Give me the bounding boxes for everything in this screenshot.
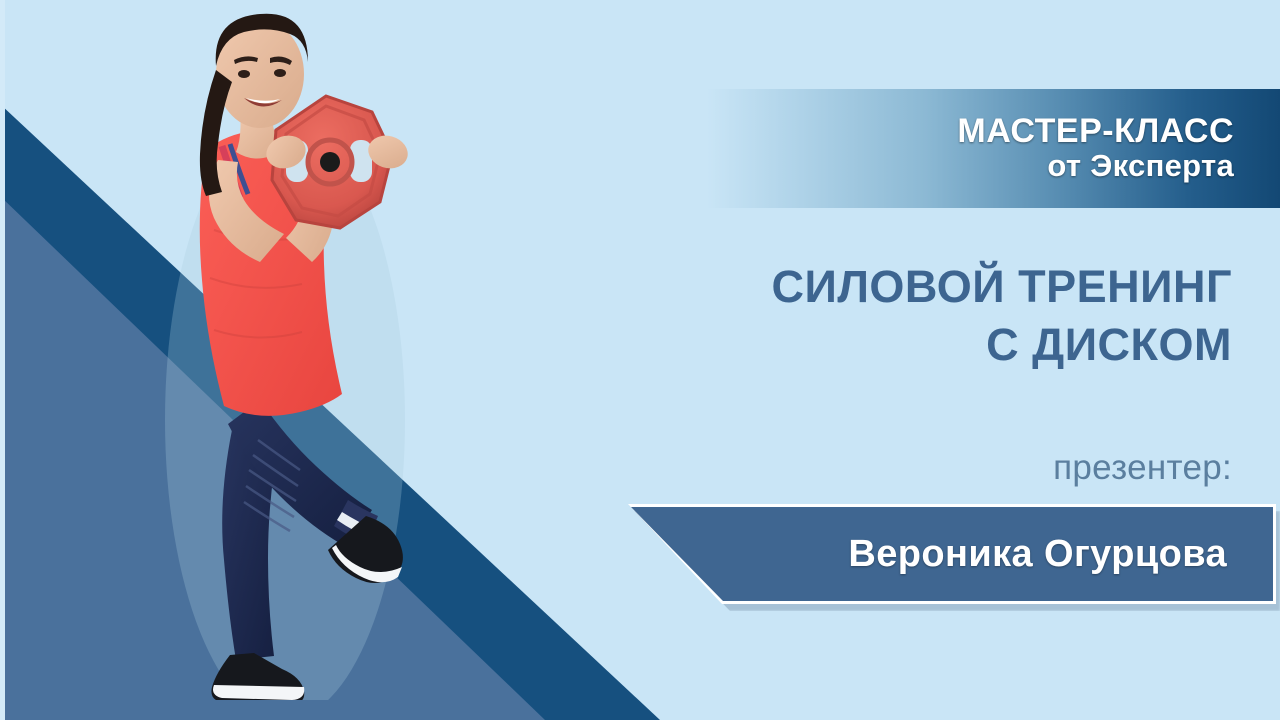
masterclass-ribbon: МАСТЕР-КЛАСС от Эксперта [707, 89, 1280, 208]
presenter-name: Вероника Огурцова [848, 533, 1227, 576]
title-line-1: СИЛОВОЙ ТРЕНИНГ [660, 258, 1232, 316]
ribbon-line-2: от Эксперта [1047, 149, 1234, 184]
title-line-2: С ДИСКОМ [660, 316, 1232, 374]
left-edge-strip [0, 0, 5, 720]
name-banner-fill: Вероника Огурцова [631, 507, 1273, 601]
promo-slide: МАСТЕР-КЛАСС от Эксперта СИЛОВОЙ ТРЕНИНГ… [0, 0, 1280, 720]
page-title: СИЛОВОЙ ТРЕНИНГ С ДИСКОМ [660, 258, 1260, 373]
presenter-photo [110, 0, 440, 700]
ribbon-line-1: МАСТЕР-КЛАСС [957, 113, 1234, 149]
presenter-name-banner: Вероника Огурцова [628, 504, 1280, 616]
presenter-label: презентер: [660, 448, 1260, 488]
